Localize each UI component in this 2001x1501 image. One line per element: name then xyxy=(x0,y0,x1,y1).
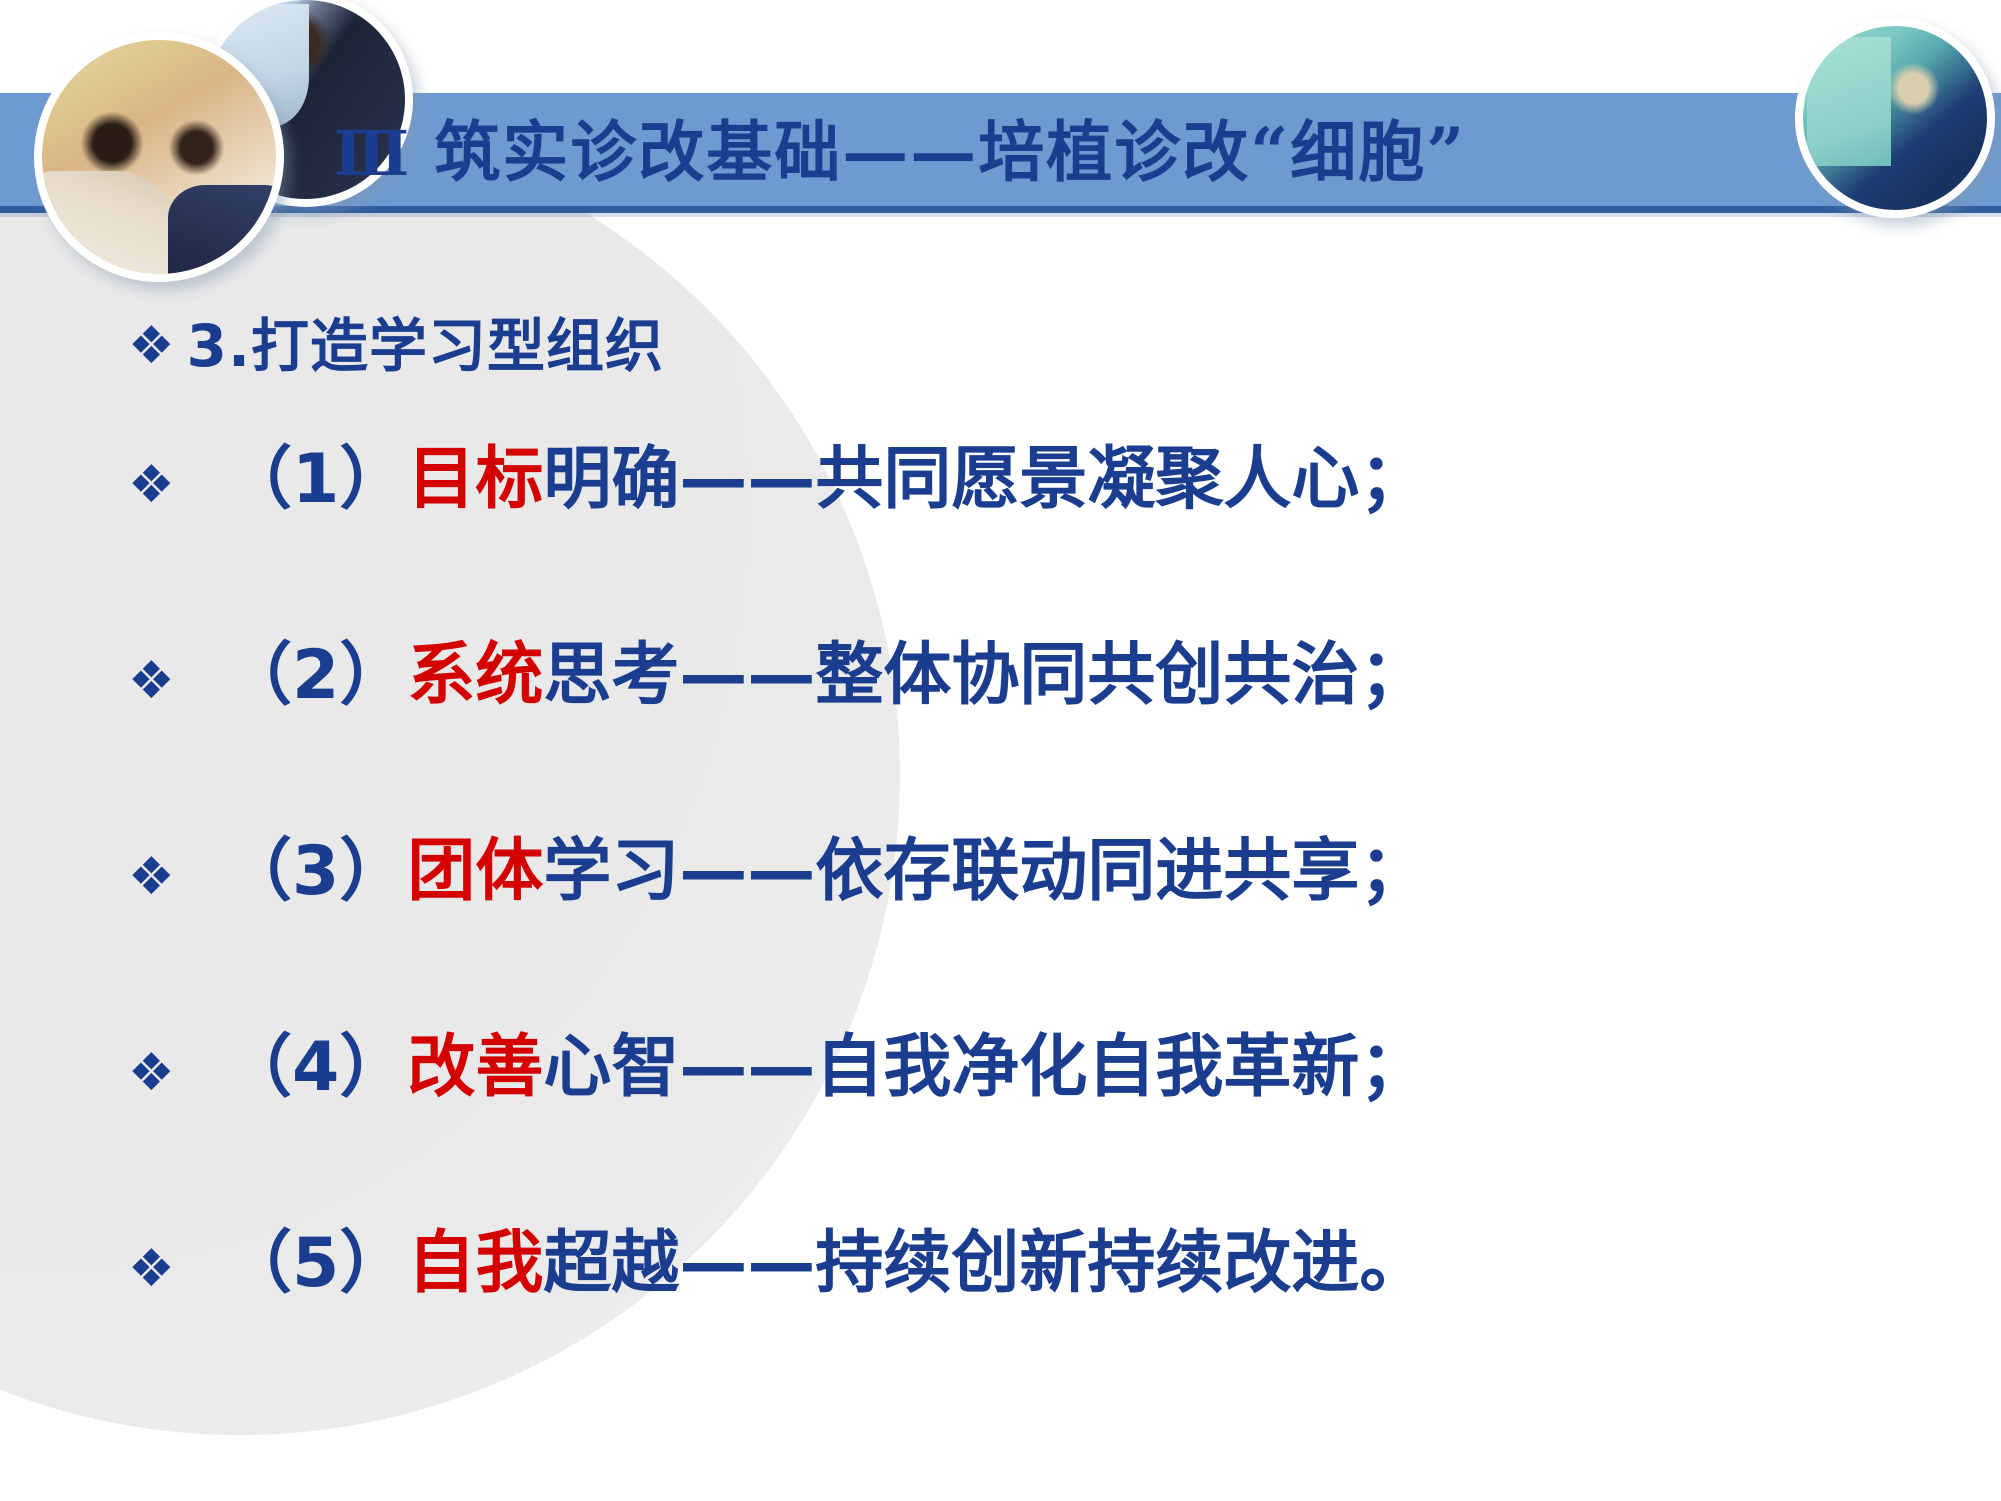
slide-title-numeral: Ⅲ xyxy=(334,117,410,190)
list-item-emphasis: 系统 xyxy=(407,636,543,715)
list-item-emphasis: 目标 xyxy=(407,440,543,519)
diamond-bullet-icon: ❖ xyxy=(128,1047,224,1099)
diamond-bullet-icon: ❖ xyxy=(128,320,175,372)
list-item-rest: 思考——整体协同共创共治； xyxy=(543,636,1427,715)
list-item-rest: 学习——依存联动同进共享； xyxy=(543,832,1427,911)
list-item-text: （2）系统思考——整体协同共创共治； xyxy=(224,639,1427,714)
slide-body: ❖ 3.打造学习型组织 ❖ （1）目标明确——共同愿景凝聚人心； ❖ （2）系统… xyxy=(0,213,2001,1501)
list-item-text: （4）改善心智——自我净化自我革新； xyxy=(224,1031,1427,1106)
list-item-emphasis: 团体 xyxy=(407,832,543,911)
list-item: ❖ （5）自我超越——持续创新持续改进。 xyxy=(128,1227,1928,1423)
list-item-rest: 明确——共同愿景凝聚人心； xyxy=(543,440,1427,519)
list-item-emphasis: 改善 xyxy=(407,1028,543,1107)
list-item: ❖ （1）目标明确——共同愿景凝聚人心； xyxy=(128,443,1928,639)
list-item: ❖ （2）系统思考——整体协同共创共治； xyxy=(128,639,1928,835)
presentation-slide: Ⅲ 筑实诊改基础——培植诊改“细胞” ❖ 3.打造学习型组织 ❖ （1）目标明确… xyxy=(0,0,2001,1501)
list-item-index: （1） xyxy=(224,440,407,519)
diamond-bullet-icon: ❖ xyxy=(128,1243,224,1295)
list-item-rest: 心智——自我净化自我革新； xyxy=(543,1028,1427,1107)
section-heading-label: 3.打造学习型组织 xyxy=(187,313,664,380)
list-item-emphasis: 自我 xyxy=(407,1224,543,1303)
list-item-rest: 超越——持续创新持续改进。 xyxy=(543,1224,1427,1303)
diamond-bullet-icon: ❖ xyxy=(128,459,224,511)
list-item: ❖ （3）团体学习——依存联动同进共享； xyxy=(128,835,1928,1031)
slide-title-text: 筑实诊改基础——培植诊改“细胞” xyxy=(434,113,1466,191)
list-item-index: （2） xyxy=(224,636,407,715)
presenter-whiteboard-photo-image xyxy=(1803,26,1987,210)
list-item-text: （5）自我超越——持续创新持续改进。 xyxy=(224,1227,1427,1302)
presenter-whiteboard-photo xyxy=(1795,18,1995,218)
list-item: ❖ （4）改善心智——自我净化自我革新； xyxy=(128,1031,1928,1227)
section-heading: ❖ 3.打造学习型组织 xyxy=(128,313,664,380)
diamond-bullet-icon: ❖ xyxy=(128,851,224,903)
list-item-index: （4） xyxy=(224,1028,407,1107)
list-item-text: （3）团体学习——依存联动同进共享； xyxy=(224,835,1427,910)
list-item-index: （3） xyxy=(224,832,407,911)
diamond-bullet-icon: ❖ xyxy=(128,655,224,707)
bullet-list: ❖ （1）目标明确——共同愿景凝聚人心； ❖ （2）系统思考——整体协同共创共治… xyxy=(128,443,1928,1423)
list-item-text: （1）目标明确——共同愿景凝聚人心； xyxy=(224,443,1427,518)
list-item-index: （5） xyxy=(224,1224,407,1303)
